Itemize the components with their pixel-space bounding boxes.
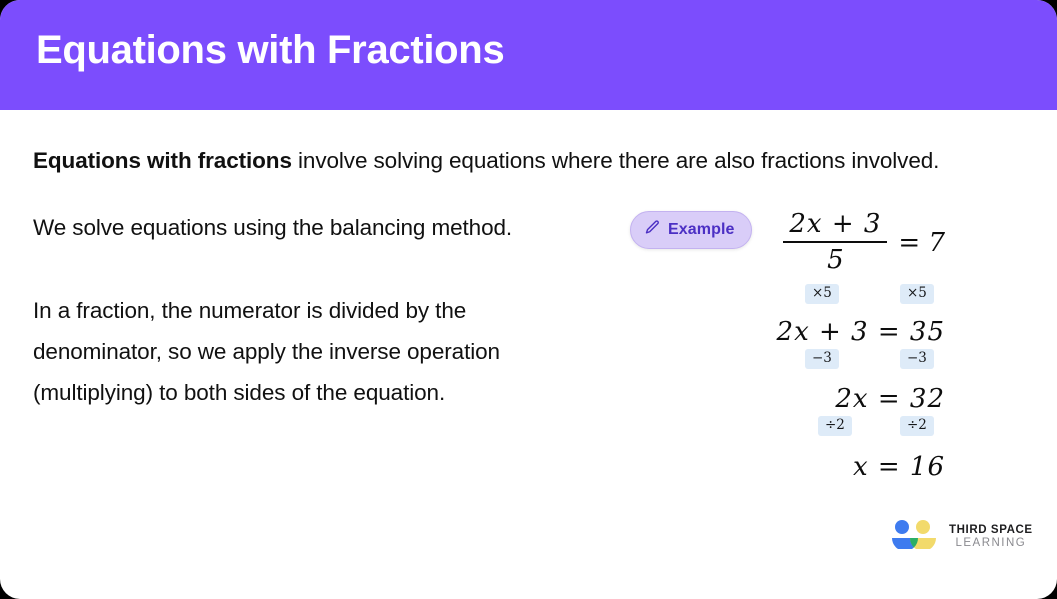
example-badge[interactable]: Example [630,211,752,249]
logo-mark-icon [888,519,940,554]
operation-row-2: −3 −3 [745,349,945,371]
example-panel: Example 2x + 3 5 = 7 ×5 ×5 2x + 3 = 35 [625,203,945,503]
equation-step-4-line: x = 16 [853,452,945,482]
logo-wordmark: THIRD SPACE LEARNING [949,524,1033,550]
equation-step-2: 2x + 3 = 35 [745,317,945,347]
lesson-card: Equations with Fractions Equations with … [0,0,1057,599]
operation-badge-left-1: ×5 [805,284,839,304]
page-header: Equations with Fractions [0,0,1057,110]
fraction-denominator: 5 [821,243,850,275]
equation-step-4: x = 16 [745,452,945,482]
equation-step-1: 2x + 3 5 = 7 [745,203,945,281]
paragraph-intro-lead: Equations with fractions [33,148,292,173]
equation-step-2-line: 2x + 3 = 35 [777,317,945,347]
equation-step-3: 2x = 32 [745,384,945,414]
example-badge-label: Example [668,221,735,239]
fraction: 2x + 3 5 [783,209,887,275]
paragraph-inverse-operation: In a fraction, the numerator is divided … [33,290,593,413]
paragraph-intro-rest: involve solving equations where there ar… [292,148,939,173]
operation-badge-left-2: −3 [805,349,839,369]
paragraph-intro: Equations with fractions involve solving… [33,140,1023,181]
pencil-icon [644,219,661,241]
operation-badge-right-3: ÷2 [900,416,934,436]
operation-row-1: ×5 ×5 [745,284,945,306]
operation-badge-left-3: ÷2 [818,416,852,436]
fraction-numerator: 2x + 3 [783,209,887,241]
paragraph-balancing-method: We solve equations using the balancing m… [33,207,573,248]
equation-stack: 2x + 3 5 = 7 ×5 ×5 2x + 3 = 35 −3 −3 2x [745,203,945,482]
equation-step-3-line: 2x = 32 [835,384,945,414]
logo-line-primary: THIRD SPACE [949,524,1033,537]
equation-step-1-relation: = 7 [898,228,945,258]
operation-row-3: ÷2 ÷2 [745,416,945,438]
brand-logo: THIRD SPACE LEARNING [888,519,1033,554]
operation-badge-right-2: −3 [900,349,934,369]
logo-line-secondary: LEARNING [949,537,1033,550]
operation-badge-right-1: ×5 [900,284,934,304]
page-title: Equations with Fractions [36,28,504,73]
